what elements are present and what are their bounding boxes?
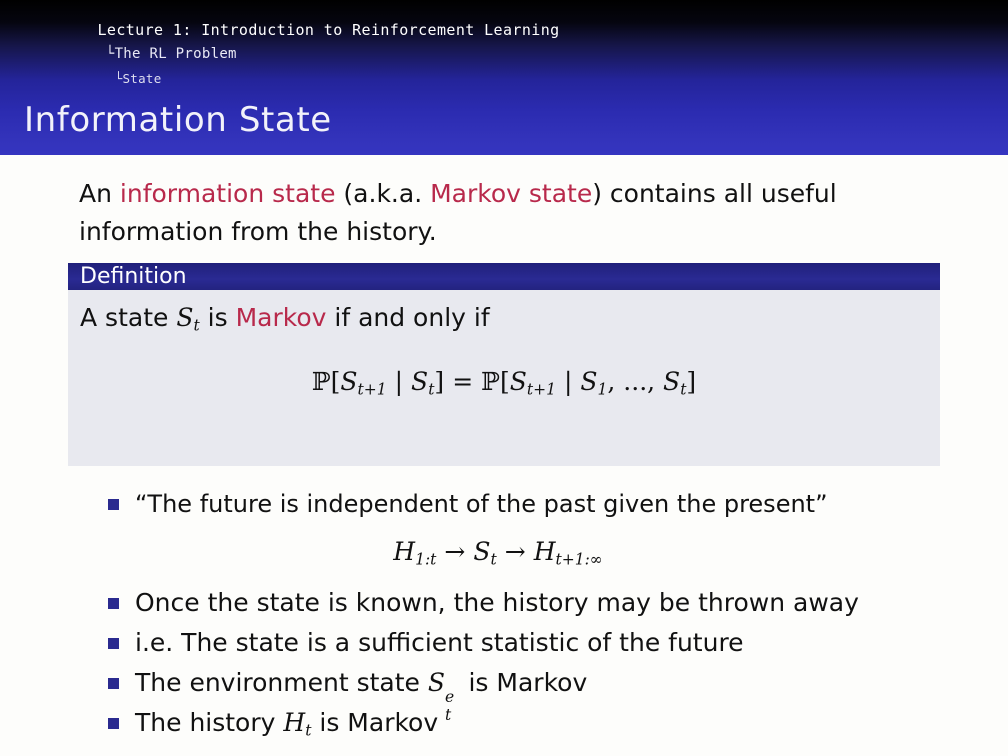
conditional-bar-lhs: | xyxy=(387,367,411,396)
bracket-close-lhs: ] xyxy=(434,367,444,396)
equals-sign: = xyxy=(444,367,481,396)
prob-operator-rhs: ℙ xyxy=(481,367,500,396)
bullet-square-icon xyxy=(108,678,119,689)
slide-body: An information state (a.k.a. Markov stat… xyxy=(0,155,1008,756)
bullet5-part1: The history xyxy=(135,708,283,737)
bracket-open-lhs: [ xyxy=(331,367,341,396)
intro-highlight-information-state: information state xyxy=(120,179,336,208)
breadcrumb-subsection-label: State xyxy=(122,71,161,86)
definition-highlight-markov: Markov xyxy=(236,303,327,332)
bracket-open-rhs: [ xyxy=(500,367,510,396)
bullet-list: “The future is independent of the past g… xyxy=(108,485,968,752)
bullet5-part2: is Markov xyxy=(311,708,438,737)
chain-H2: Ht+1:∞ xyxy=(534,537,603,566)
eq-S-rhs-first: S1 xyxy=(580,367,607,396)
bullet-text-history-thrown-away: Once the state is known, the history may… xyxy=(135,584,859,622)
definition-statement: A state St is Markov if and only if xyxy=(68,300,940,343)
eq-S-rhs-next: St+1 xyxy=(510,367,556,396)
symbol-history: Ht xyxy=(283,708,311,737)
list-item: The environment state Set is Markov xyxy=(108,664,968,702)
conditional-bar-rhs: | xyxy=(556,367,580,396)
bullet-text-history-markov: The history Ht is Markov xyxy=(135,704,438,749)
markov-property-equation: ℙ[St+1|St]=ℙ[St+1|S1, ..., St] xyxy=(68,367,940,398)
eq-S-rhs-last: St xyxy=(663,367,686,396)
bullet-text-quote: “The future is independent of the past g… xyxy=(135,485,828,523)
bullet-text-sufficient-statistic: i.e. The state is a sufficient statistic… xyxy=(135,624,744,662)
symbol-environment-state: Set xyxy=(428,668,461,697)
bullet4-part1: The environment state xyxy=(135,668,428,697)
breadcrumb-item-subsection[interactable]: └State xyxy=(52,56,162,101)
chain-arrow-2: → xyxy=(497,537,534,566)
bullet-square-icon xyxy=(108,718,119,729)
definition-text-part3: if and only if xyxy=(326,303,489,332)
eq-comma-1: , xyxy=(607,367,623,396)
intro-paragraph: An information state (a.k.a. Markov stat… xyxy=(79,175,879,251)
list-item: Once the state is known, the history may… xyxy=(108,584,968,622)
page-title: Information State xyxy=(24,100,332,140)
bullet-square-icon xyxy=(108,638,119,649)
chain-H1: H1:t xyxy=(393,537,436,566)
eq-S-lhs-next: St+1 xyxy=(340,367,386,396)
bracket-close-rhs: ] xyxy=(686,367,696,396)
slide-header: Lecture 1: Introduction to Reinforcement… xyxy=(0,0,1008,155)
definition-header: Definition xyxy=(68,263,940,290)
bullet-square-icon xyxy=(108,598,119,609)
bullet4-part2: is Markov xyxy=(461,668,588,697)
definition-header-label: Definition xyxy=(80,264,187,289)
eq-ellipsis: ... xyxy=(623,367,647,396)
lecture-slide: Lecture 1: Introduction to Reinforcement… xyxy=(0,0,1008,756)
breadcrumb: Lecture 1: Introduction to Reinforcement… xyxy=(0,0,1008,95)
intro-text-part1: An xyxy=(79,179,120,208)
prob-operator-lhs: ℙ xyxy=(312,367,331,396)
markov-chain-equation: H1:t→St→Ht+1:∞ xyxy=(108,537,968,568)
definition-body: A state St is Markov if and only if ℙ[St… xyxy=(68,290,940,466)
intro-highlight-markov-state: Markov state xyxy=(430,179,592,208)
definition-text-part2: is xyxy=(200,303,236,332)
bullet-square-icon xyxy=(108,499,119,510)
definition-block: Definition A state St is Markov if and o… xyxy=(68,263,940,466)
definition-symbol-S: St xyxy=(176,303,199,332)
intro-text-part2: (a.k.a. xyxy=(335,179,430,208)
eq-comma-2: , xyxy=(647,367,663,396)
definition-text-part1: A state xyxy=(80,303,176,332)
list-item: The history Ht is Markov xyxy=(108,704,968,749)
chain-S: St xyxy=(473,537,496,566)
chain-arrow-1: → xyxy=(436,537,473,566)
list-item: “The future is independent of the past g… xyxy=(108,485,968,523)
eq-S-lhs-current: St xyxy=(411,367,434,396)
bullet-text-environment-state: The environment state Set is Markov xyxy=(135,664,587,702)
list-item: i.e. The state is a sufficient statistic… xyxy=(108,624,968,662)
